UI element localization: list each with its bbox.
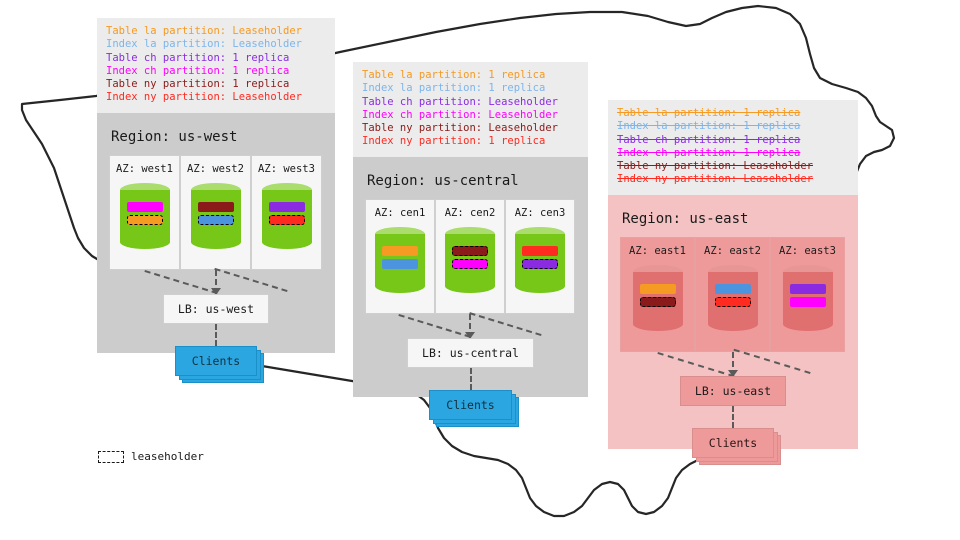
node-cylinder-cen3[interactable] — [515, 227, 565, 293]
az-label-cen2: AZ: cen2 — [445, 207, 496, 219]
legend-line-index-ch: Index ch partition: 1 replica — [106, 65, 326, 78]
az-box-east1[interactable]: AZ: east1 — [620, 237, 695, 352]
legend-line-table-la: Table la partition: 1 replica — [617, 107, 849, 120]
az-label-east1: AZ: east1 — [629, 245, 686, 257]
connector-right — [469, 312, 541, 336]
partition-bar-leaseholder — [715, 297, 751, 307]
az-label-cen3: AZ: cen3 — [515, 207, 566, 219]
legend-line-table-ny: Table ny partition: Leaseholder — [362, 122, 579, 135]
connectors-us-west — [109, 270, 323, 294]
partition-bar-leaseholder — [127, 215, 163, 225]
legend-line-index-ch: Index ch partition: 1 replica — [617, 147, 849, 160]
cylinder-bottom — [262, 235, 312, 249]
region-us-central: Table la partition: 1 replica Index la p… — [353, 62, 588, 397]
clients-stack-us-east: Clients — [692, 428, 774, 458]
cylinder-bottom — [633, 317, 683, 331]
legend-us-east: Table la partition: 1 replica Index la p… — [608, 100, 858, 195]
partition-bar — [269, 202, 305, 212]
legend-line-table-ny: Table ny partition: 1 replica — [106, 78, 326, 91]
clients-us-west[interactable]: Clients — [175, 346, 257, 376]
legend-line-table-la: Table la partition: Leaseholder — [106, 25, 326, 38]
az-box-west1[interactable]: AZ: west1 — [109, 155, 180, 270]
partition-bar — [790, 297, 826, 307]
legend-line-index-ny: Index ny partition: Leaseholder — [617, 173, 849, 186]
partition-bars-east3 — [790, 284, 826, 307]
partition-bar — [790, 284, 826, 294]
node-cylinder-west2[interactable] — [191, 183, 241, 249]
az-row-us-east: AZ: east1 AZ: east2 — [620, 237, 846, 352]
lb-to-clients-stem — [470, 368, 472, 390]
connector-right — [733, 348, 810, 373]
legend-line-table-ch: Table ch partition: 1 replica — [617, 134, 849, 147]
partition-bar — [640, 284, 676, 294]
region-title-us-central: Region: us-central — [367, 173, 576, 189]
region-us-east: Table la partition: 1 replica Index la p… — [608, 100, 858, 449]
lb-us-west[interactable]: LB: us-west — [163, 294, 269, 324]
az-box-west3[interactable]: AZ: west3 — [251, 155, 322, 270]
legend-line-table-ch: Table ch partition: 1 replica — [106, 52, 326, 65]
az-box-cen1[interactable]: AZ: cen1 — [365, 199, 435, 314]
leaseholder-swatch-icon — [98, 451, 124, 463]
lb-us-central[interactable]: LB: us-central — [407, 338, 534, 368]
partition-bars-west1 — [127, 202, 163, 225]
connector-left — [398, 314, 470, 338]
cylinder-bottom — [445, 279, 495, 293]
legend-line-index-la: Index la partition: 1 replica — [362, 82, 579, 95]
partition-bars-east1 — [640, 284, 676, 307]
az-box-west2[interactable]: AZ: west2 — [180, 155, 251, 270]
clients-stack-us-west: Clients — [175, 346, 257, 376]
az-box-east2[interactable]: AZ: east2 — [695, 237, 770, 352]
partition-bar — [382, 246, 418, 256]
partition-bars-cen2 — [452, 246, 488, 269]
region-panel-us-east: Region: us-east AZ: east1 AZ: east2 — [608, 195, 858, 449]
partition-bar — [382, 259, 418, 269]
legend-line-index-la: Index la partition: Leaseholder — [106, 38, 326, 51]
region-title-us-west: Region: us-west — [111, 129, 323, 145]
region-panel-us-central: Region: us-central AZ: cen1 AZ: cen2 — [353, 157, 588, 397]
partition-bar — [715, 284, 751, 294]
clients-stack-us-central: Clients — [429, 390, 511, 420]
node-cylinder-cen2[interactable] — [445, 227, 495, 293]
leaseholder-key-label: leaseholder — [131, 450, 204, 463]
connector-right — [214, 268, 287, 292]
partition-bar-leaseholder — [269, 215, 305, 225]
connector-left — [144, 270, 217, 294]
partition-bar-leaseholder — [452, 259, 488, 269]
connectors-us-central — [365, 314, 576, 338]
az-label-west3: AZ: west3 — [258, 163, 315, 175]
legend-line-table-ch: Table ch partition: Leaseholder — [362, 96, 579, 109]
partition-bars-cen1 — [382, 246, 418, 269]
lb-us-east[interactable]: LB: us-east — [680, 376, 786, 406]
connectors-us-east — [620, 352, 846, 376]
cylinder-bottom — [120, 235, 170, 249]
partition-bar-leaseholder — [198, 215, 234, 225]
az-box-cen3[interactable]: AZ: cen3 — [505, 199, 575, 314]
partition-bar-leaseholder — [522, 259, 558, 269]
az-row-us-central: AZ: cen1 AZ: cen2 — [365, 199, 576, 314]
legend-line-index-la: Index la partition: 1 replica — [617, 120, 849, 133]
legend-line-index-ch: Index ch partition: Leaseholder — [362, 109, 579, 122]
partition-bars-east2 — [715, 284, 751, 307]
az-label-east3: AZ: east3 — [779, 245, 836, 257]
az-box-east3[interactable]: AZ: east3 — [770, 237, 845, 352]
clients-us-central[interactable]: Clients — [429, 390, 511, 420]
lb-to-clients-stem — [732, 406, 734, 428]
az-label-cen1: AZ: cen1 — [375, 207, 426, 219]
node-cylinder-west1[interactable] — [120, 183, 170, 249]
node-cylinder-west3[interactable] — [262, 183, 312, 249]
legend-line-index-ny: Index ny partition: Leaseholder — [106, 91, 326, 104]
partition-bar-leaseholder — [452, 246, 488, 256]
cylinder-bottom — [375, 279, 425, 293]
node-cylinder-cen1[interactable] — [375, 227, 425, 293]
node-cylinder-east2[interactable] — [708, 265, 758, 331]
lb-to-clients-stem — [215, 324, 217, 346]
legend-line-table-ny: Table ny partition: Leaseholder — [617, 160, 849, 173]
az-label-west2: AZ: west2 — [187, 163, 244, 175]
node-cylinder-east3[interactable] — [783, 265, 833, 331]
legend-us-central: Table la partition: 1 replica Index la p… — [353, 62, 588, 157]
legend-line-index-ny: Index ny partition: 1 replica — [362, 135, 579, 148]
connector-left — [657, 352, 734, 377]
az-row-us-west: AZ: west1 AZ: west2 — [109, 155, 323, 270]
az-box-cen2[interactable]: AZ: cen2 — [435, 199, 505, 314]
clients-us-east[interactable]: Clients — [692, 428, 774, 458]
partition-bars-cen3 — [522, 246, 558, 269]
leaseholder-legend-key: leaseholder — [98, 450, 204, 463]
legend-us-west: Table la partition: Leaseholder Index la… — [97, 18, 335, 113]
region-us-west: Table la partition: Leaseholder Index la… — [97, 18, 335, 353]
az-label-west1: AZ: west1 — [116, 163, 173, 175]
partition-bar — [522, 246, 558, 256]
region-panel-us-west: Region: us-west AZ: west1 AZ: west2 — [97, 113, 335, 353]
partition-bar-leaseholder — [640, 297, 676, 307]
region-title-us-east: Region: us-east — [622, 211, 846, 227]
cylinder-bottom — [783, 317, 833, 331]
partition-bars-west2 — [198, 202, 234, 225]
az-label-east2: AZ: east2 — [704, 245, 761, 257]
cylinder-bottom — [708, 317, 758, 331]
legend-line-table-la: Table la partition: 1 replica — [362, 69, 579, 82]
cylinder-bottom — [191, 235, 241, 249]
cylinder-bottom — [515, 279, 565, 293]
node-cylinder-east1[interactable] — [633, 265, 683, 331]
partition-bar — [127, 202, 163, 212]
partition-bar — [198, 202, 234, 212]
partition-bars-west3 — [269, 202, 305, 225]
